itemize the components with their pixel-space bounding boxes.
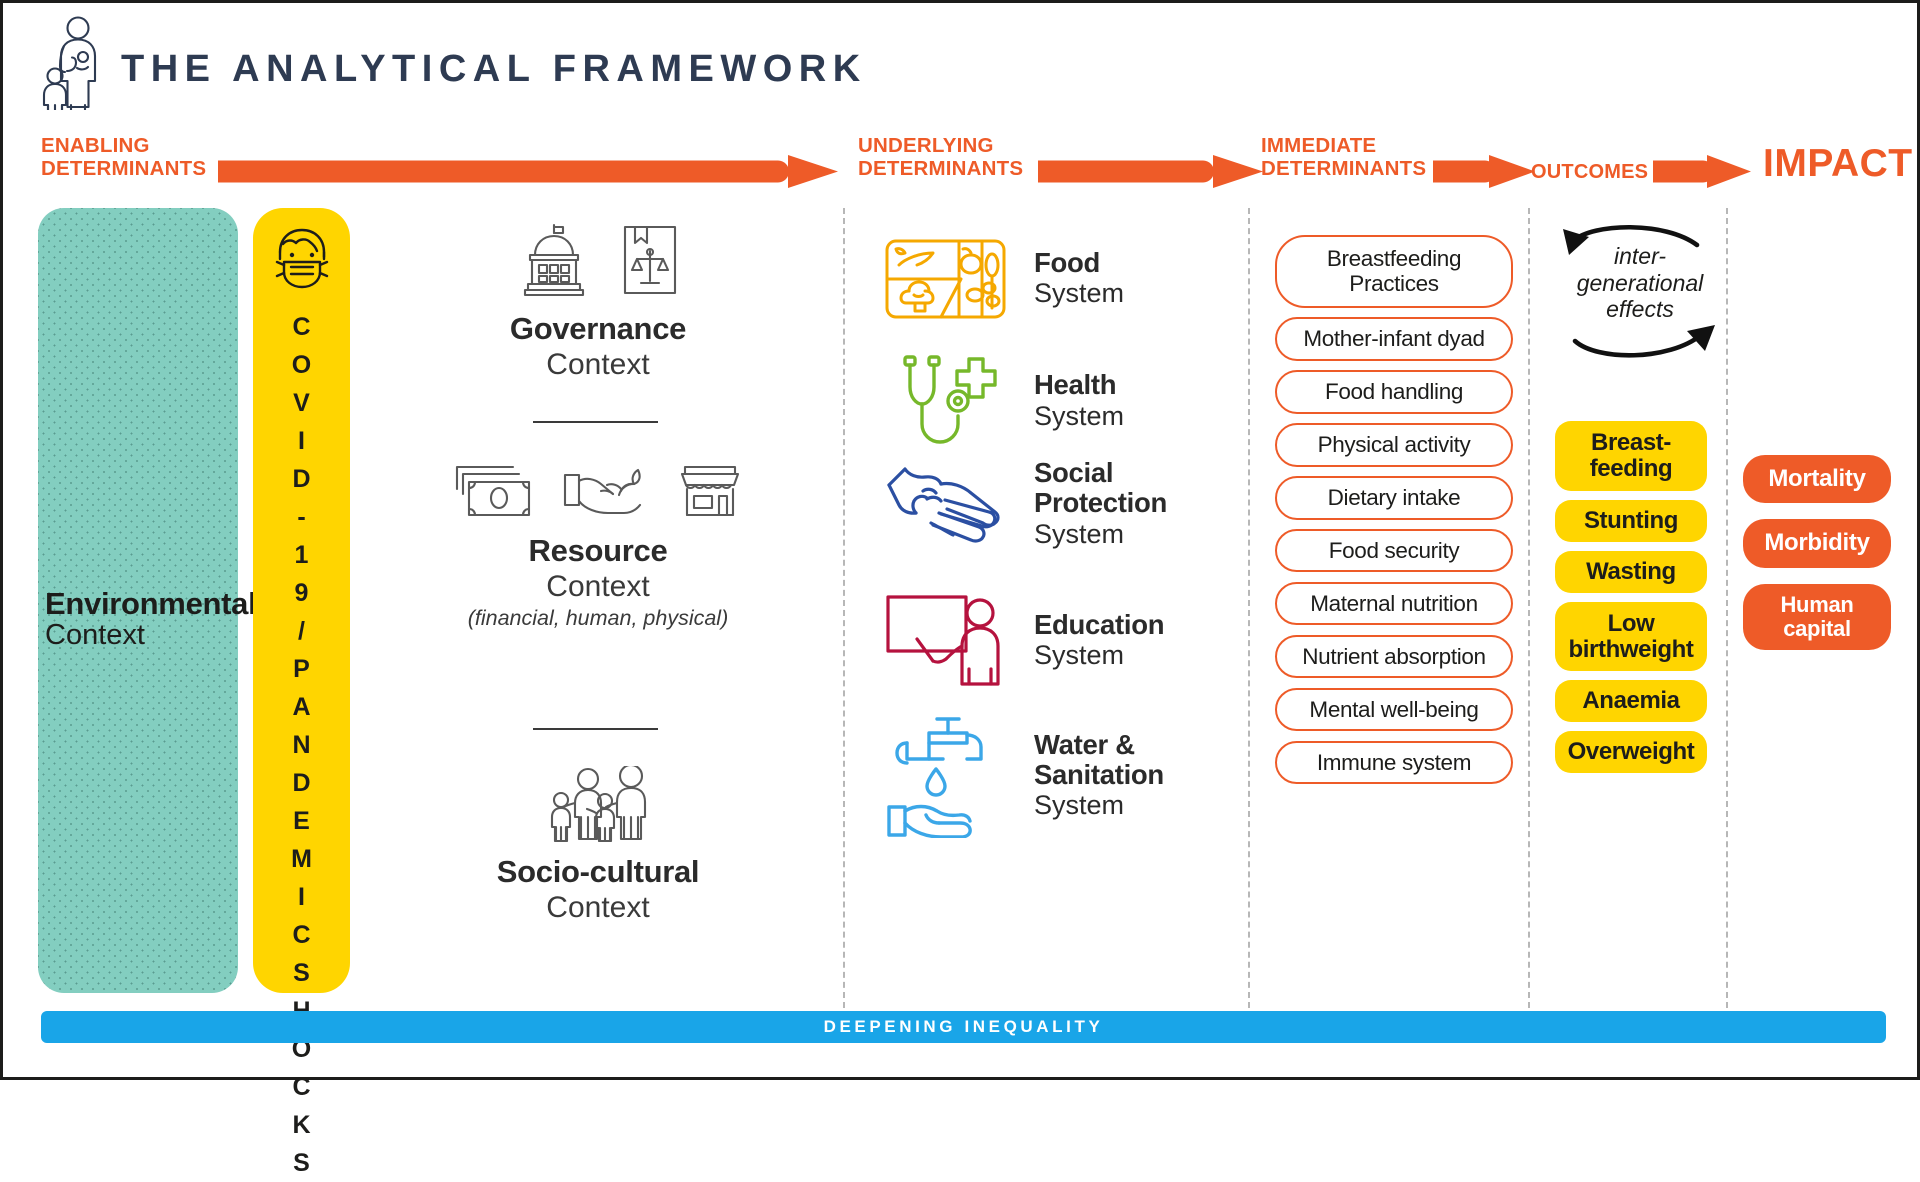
covid-pandemic-shocks-panel: COVID-19 / PANDEMIC SHOCKS xyxy=(253,208,350,993)
system-row-water-sanitation: Water & Sanitation System xyxy=(883,713,1164,838)
arrow-underlying-to-immediate xyxy=(1038,155,1263,188)
environmental-context-label: Environmental Context xyxy=(38,588,238,652)
context-divider-2 xyxy=(533,728,658,730)
system-label-food: Food System xyxy=(1034,248,1124,309)
resource-note: (financial, human, physical) xyxy=(388,606,808,631)
governance-title: Governance xyxy=(388,311,808,347)
arrow-enabling-to-underlying xyxy=(218,155,838,188)
arrow-outcomes-to-impact xyxy=(1653,155,1751,188)
band-label-impact: IMPACT xyxy=(1763,142,1913,186)
helping-hands-icon xyxy=(883,461,1008,546)
covid-vertical-text: COVID-19 / PANDEMIC SHOCKS xyxy=(253,308,350,1182)
governance-icons xyxy=(388,221,808,299)
law-scales-document-icon xyxy=(619,221,681,299)
stethoscope-cross-icon xyxy=(883,351,1008,451)
outcomes-list: Breast-feeding Stunting Wasting Lowbirth… xyxy=(1555,421,1707,782)
list-item[interactable]: Mother-infant dyad xyxy=(1275,317,1513,360)
system-label-social-protection: Social Protection System xyxy=(1034,458,1167,550)
system-row-education: Education System xyxy=(883,593,1164,688)
band-label-immediate: IMMEDIATEDETERMINANTS xyxy=(1261,135,1426,181)
system-row-health: Health System xyxy=(883,351,1124,451)
list-item[interactable]: Wasting xyxy=(1555,551,1707,593)
shop-storefront-icon xyxy=(677,461,743,521)
list-item[interactable]: Anaemia xyxy=(1555,680,1707,722)
government-building-icon xyxy=(515,221,593,299)
framework-diagram: THE ANALYTICAL FRAMEWORK ENABLINGDETERMI… xyxy=(0,0,1920,1080)
list-item[interactable]: Overweight xyxy=(1555,731,1707,773)
governance-context-block: Governance Context xyxy=(388,221,808,382)
teacher-board-icon xyxy=(883,593,1008,688)
governance-subtitle: Context xyxy=(388,347,808,382)
deepening-inequality-label: DEEPENING INEQUALITY xyxy=(824,1017,1104,1037)
list-item[interactable]: Food security xyxy=(1275,529,1513,572)
socio-cultural-context-block: Socio-cultural Context xyxy=(388,766,808,925)
list-item[interactable]: Mental well-being xyxy=(1275,688,1513,731)
family-group-icon xyxy=(544,766,652,842)
banknotes-icon xyxy=(453,461,535,521)
band-label-underlying: UNDERLYINGDETERMINANTS xyxy=(858,135,1023,181)
column-divider-3 xyxy=(1528,208,1530,1008)
environmental-context-panel: Environmental Context xyxy=(38,208,238,993)
band-label-enabling: ENABLINGDETERMINANTS xyxy=(41,135,206,181)
list-item[interactable]: Immune system xyxy=(1275,741,1513,784)
food-tray-icon xyxy=(883,231,1008,326)
socio-cultural-subtitle: Context xyxy=(388,890,808,925)
hand-with-seedling-icon xyxy=(561,461,651,521)
list-item[interactable]: Lowbirthweight xyxy=(1555,602,1707,672)
context-divider-1 xyxy=(533,421,658,423)
system-label-water-sanitation: Water & Sanitation System xyxy=(1034,730,1164,822)
list-item[interactable]: Stunting xyxy=(1555,500,1707,542)
intergenerational-effects-block: inter- generational effects xyxy=(1545,215,1735,365)
system-row-social-protection: Social Protection System xyxy=(883,458,1167,550)
immediate-determinants-list: BreastfeedingPractices Mother-infant dya… xyxy=(1275,235,1513,794)
page-title: THE ANALYTICAL FRAMEWORK xyxy=(121,48,867,91)
list-item[interactable]: Morbidity xyxy=(1743,519,1891,567)
band-label-outcomes: OUTCOMES xyxy=(1531,161,1648,183)
resource-title: Resource xyxy=(388,533,808,569)
list-item[interactable]: Dietary intake xyxy=(1275,476,1513,519)
system-row-food: Food System xyxy=(883,231,1124,326)
list-item[interactable]: Physical activity xyxy=(1275,423,1513,466)
arrow-immediate-to-outcomes xyxy=(1433,155,1535,188)
list-item[interactable]: Breast-feeding xyxy=(1555,421,1707,491)
system-label-education: Education System xyxy=(1034,610,1164,671)
list-item[interactable]: Humancapital xyxy=(1743,584,1891,650)
column-divider-1 xyxy=(843,208,845,1008)
column-divider-2 xyxy=(1248,208,1250,1008)
resource-subtitle: Context xyxy=(388,569,808,604)
resource-context-block: Resource Context (financial, human, phys… xyxy=(388,461,808,631)
list-item[interactable]: Food handling xyxy=(1275,370,1513,413)
mother-and-child-icon xyxy=(31,15,111,110)
socio-cultural-title: Socio-cultural xyxy=(388,854,808,890)
list-item[interactable]: Mortality xyxy=(1743,455,1891,503)
list-item[interactable]: BreastfeedingPractices xyxy=(1275,235,1513,308)
list-item[interactable]: Nutrient absorption xyxy=(1275,635,1513,678)
deepening-inequality-bar: DEEPENING INEQUALITY xyxy=(41,1011,1886,1043)
tap-water-hand-icon xyxy=(883,713,1008,838)
impacts-list: Mortality Morbidity Humancapital xyxy=(1743,455,1891,666)
masked-child-face-icon xyxy=(269,222,335,298)
socio-cultural-icons xyxy=(388,766,808,842)
resource-icons xyxy=(388,461,808,521)
system-label-health: Health System xyxy=(1034,370,1124,431)
list-item[interactable]: Maternal nutrition xyxy=(1275,582,1513,625)
intergenerational-effects-label: inter- generational effects xyxy=(1545,243,1735,323)
